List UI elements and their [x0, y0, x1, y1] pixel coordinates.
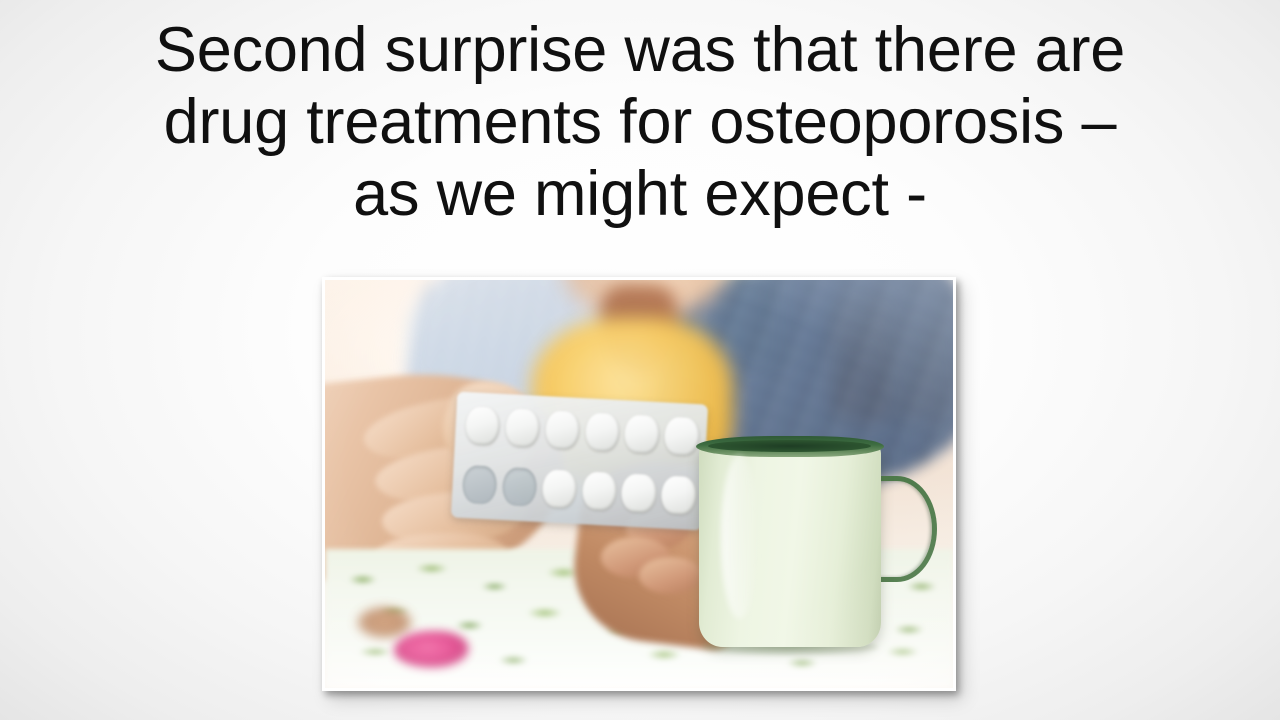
slide-photo-frame — [322, 277, 956, 691]
photo-blister-pack — [451, 392, 708, 531]
photo-blister-row-top — [465, 406, 700, 456]
title-line-3: as we might expect - — [72, 158, 1208, 230]
photo-pill — [465, 406, 501, 446]
photo-pill — [504, 408, 540, 448]
photo-tablecloth-pink-flower — [394, 631, 469, 668]
photo-right-knuckle-4 — [639, 557, 702, 594]
photo-pill — [660, 476, 696, 516]
photo-tablecloth-brown-motif — [356, 606, 413, 639]
slide-title: Second surprise was that there are drug … — [72, 14, 1208, 230]
slide-photo — [325, 280, 953, 688]
title-line-2: drug treatments for osteoporosis – — [72, 86, 1208, 158]
photo-mug-highlight — [721, 455, 759, 618]
photo-pill — [544, 410, 580, 450]
photo-pill — [584, 412, 620, 452]
photo-blister-row-bottom — [461, 466, 696, 516]
photo-pill-empty — [461, 466, 497, 506]
photo-pill — [621, 474, 657, 514]
title-line-1: Second surprise was that there are — [72, 14, 1208, 86]
photo-pill — [541, 470, 577, 510]
photo-pill — [624, 415, 660, 455]
presentation-slide: Second surprise was that there are drug … — [0, 0, 1280, 720]
photo-pill — [581, 472, 617, 512]
photo-pill-empty — [501, 468, 537, 508]
photo-pill — [664, 417, 700, 457]
